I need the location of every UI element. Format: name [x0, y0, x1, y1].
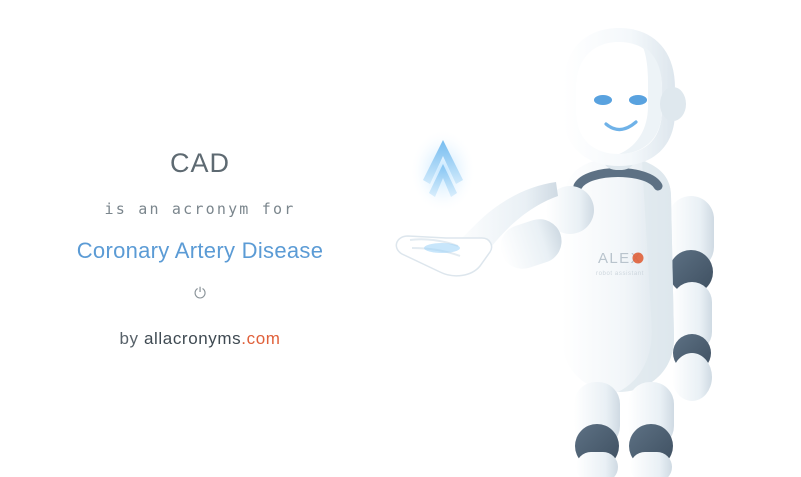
page-root: CAD is an acronym for Coronary Artery Di…: [0, 0, 801, 477]
byline-tld: .com: [241, 329, 280, 348]
acronym-expansion: Coronary Artery Disease: [0, 238, 400, 264]
robot-chest-label: ALEX robot assistant: [596, 250, 644, 277]
byline: by allacronyms.com: [0, 329, 400, 349]
robot-legs: [574, 382, 674, 477]
byline-brand: allacronyms: [144, 329, 241, 348]
robot-illustration: ALEX robot assistant: [380, 0, 801, 477]
byline-prefix: by: [119, 329, 143, 348]
robot-arm-right: [668, 196, 714, 401]
acronym-subtitle: is an acronym for: [0, 200, 400, 218]
robot-head: [563, 28, 686, 170]
power-icon: ⏻: [0, 286, 400, 301]
svg-text:robot assistant: robot assistant: [596, 271, 644, 277]
acronym-title: CAD: [0, 148, 400, 179]
acronym-text-block: CAD is an acronym for Coronary Artery Di…: [0, 0, 400, 477]
